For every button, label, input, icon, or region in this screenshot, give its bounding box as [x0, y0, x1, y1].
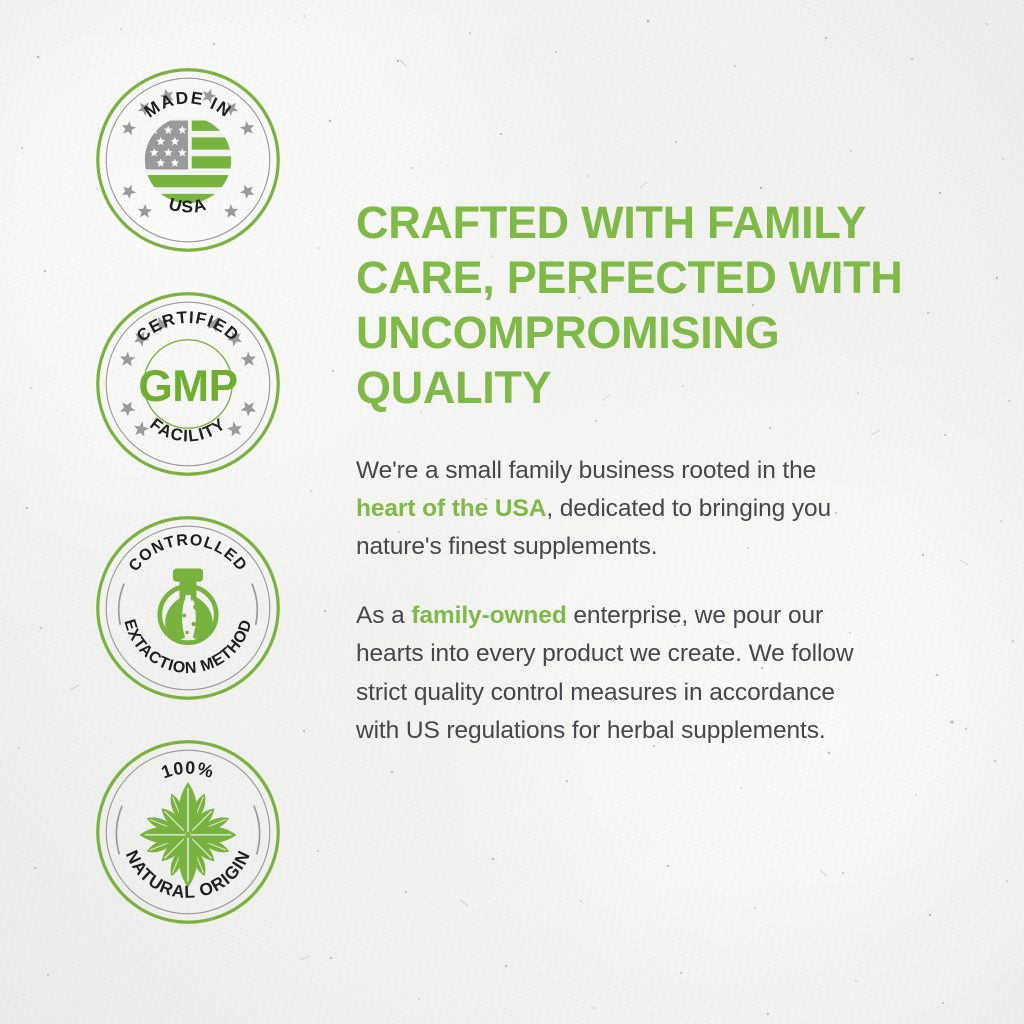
- badge-certified-gmp-facility: GMP CERTIFIED FACILITY: [94, 290, 282, 478]
- badge-bottom-label: USA: [167, 194, 209, 217]
- badge-natural-origin: 100% NATURAL ORIGIN: [94, 738, 282, 926]
- highlighted-phrase: heart of the USA: [356, 495, 546, 522]
- badge-arc-right: [254, 806, 260, 855]
- badge-top-label: MADE IN: [140, 87, 235, 121]
- badge-controlled-extaction-method: CONTROLLED EXTACTION METHOD: [94, 514, 282, 702]
- body-paragraph: We're a small family business rooted in …: [356, 452, 876, 567]
- badge-arc-right: [252, 584, 257, 625]
- badge-made-in-usa: MADE IN USA: [94, 66, 282, 254]
- flask-leaf-icon: [160, 569, 216, 643]
- badge-arc-left: [116, 806, 122, 855]
- gmp-text-icon: GMP: [138, 362, 237, 411]
- highlighted-phrase: family-owned: [411, 602, 566, 629]
- badge-arc-left: [119, 584, 124, 625]
- usa-flag-circle-icon: [145, 117, 231, 206]
- body-text-segment: As a: [356, 602, 411, 629]
- body-copy: We're a small family business rooted in …: [356, 416, 876, 751]
- body-paragraph: As a family-owned enterprise, we pour ou…: [356, 597, 876, 751]
- badge-bottom-label: EXTACTION METHOD: [120, 617, 255, 677]
- page-title: Crafted with family care, perfected with…: [356, 196, 916, 416]
- badge-top-label: 100%: [159, 758, 217, 783]
- badge-bottom-label: FACILITY: [146, 414, 229, 445]
- trust-badge-column: MADE IN USA: [94, 66, 294, 962]
- content-column: Crafted with family care, perfected with…: [356, 196, 922, 751]
- promo-page: MADE IN USA: [0, 0, 1024, 1024]
- body-text-segment: We're a small family business rooted in …: [356, 457, 816, 484]
